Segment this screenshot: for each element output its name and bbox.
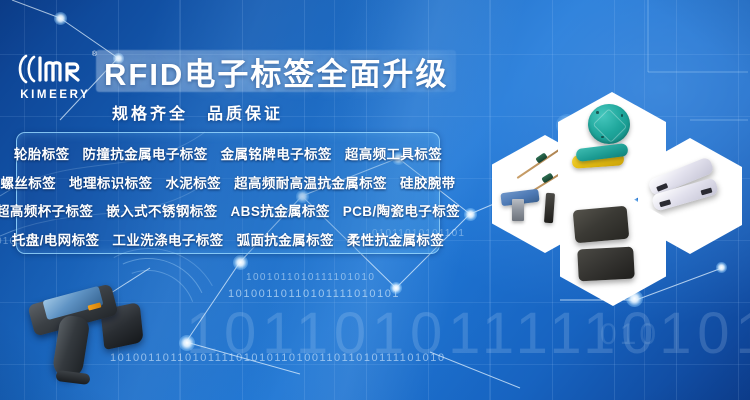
product-tag-item[interactable]: 轮胎标签: [14, 143, 70, 163]
page-title: RFID电子标签全面升级: [104, 51, 454, 91]
product-tag-item[interactable]: 硅胶腕带: [400, 172, 456, 192]
network-node: [464, 208, 477, 221]
product-tag-item[interactable]: 地理标识标签: [69, 172, 152, 192]
product-tag-item[interactable]: 托盘/电网标签: [12, 229, 100, 249]
product-list-row: 超高频杯子标签 嵌入式不锈钢标签 ABS抗金属标签 PCB/陶瓷电子标签: [17, 197, 439, 223]
handheld-rfid-reader: [26, 276, 158, 392]
brand-logo[interactable]: ® KIMEERY: [12, 52, 96, 101]
product-tag-item[interactable]: 弧面抗金属标签: [237, 229, 334, 249]
disc-hole: [621, 114, 624, 117]
page-subtitle: 规格齐全 品质保证: [112, 100, 283, 124]
brand-name: KIMEERY: [12, 89, 96, 101]
disc-hole: [596, 111, 599, 114]
product-list-row: 轮胎标签 防撞抗金属电子标签 金属铭牌电子标签 超高频工具标签: [17, 140, 439, 166]
product-tag-item[interactable]: PCB/陶瓷电子标签: [343, 200, 460, 220]
product-tag-item[interactable]: 工业洗涤电子标签: [112, 229, 223, 249]
teal-disc-tag: [588, 104, 630, 144]
dark-pad-tag-lower: [577, 247, 635, 282]
network-node: [54, 12, 67, 25]
product-tag-item[interactable]: ABS抗金属标签: [231, 200, 330, 220]
product-tag-item[interactable]: 柔性抗金属标签: [347, 229, 444, 249]
product-tag-item[interactable]: 超高频杯子标签: [0, 200, 93, 220]
product-tag-item[interactable]: 金属铭牌电子标签: [221, 143, 332, 163]
rfid-promo-banner: 1011010111110101 10100110110101111010101…: [0, 0, 750, 400]
product-tag-item[interactable]: 嵌入式不锈钢标签: [106, 200, 217, 220]
dark-stick-tag: [544, 193, 555, 224]
product-list-panel: 轮胎标签 防撞抗金属电子标签 金属铭牌电子标签 超高频工具标签 螺丝标签 地理标…: [16, 132, 440, 254]
network-node: [716, 262, 727, 273]
reader-grip-base: [55, 370, 90, 385]
product-tag-item[interactable]: 水泥标签: [165, 172, 221, 192]
kimeery-kmr-logo-icon: ®: [12, 52, 96, 86]
network-node: [390, 282, 402, 294]
dark-pad-tag-upper: [573, 206, 630, 244]
product-tag-item[interactable]: 防撞抗金属电子标签: [83, 143, 208, 163]
product-list-row: 托盘/电网标签 工业洗涤电子标签 弧面抗金属标签 柔性抗金属标签: [17, 226, 439, 252]
product-list-row: 螺丝标签 地理标识标签 水泥标签 超高频耐高温抗金属标签 硅胶腕带: [17, 169, 439, 195]
network-node: [233, 255, 248, 270]
product-tag-item[interactable]: 超高频耐高温抗金属标签: [234, 172, 387, 192]
product-tag-item[interactable]: 螺丝标签: [0, 172, 56, 192]
tag-chip: [659, 199, 671, 207]
disc-hole: [601, 136, 604, 139]
tag-chip: [701, 188, 713, 196]
screw-tag: [512, 199, 524, 221]
product-tag-item[interactable]: 超高频工具标签: [345, 143, 442, 163]
